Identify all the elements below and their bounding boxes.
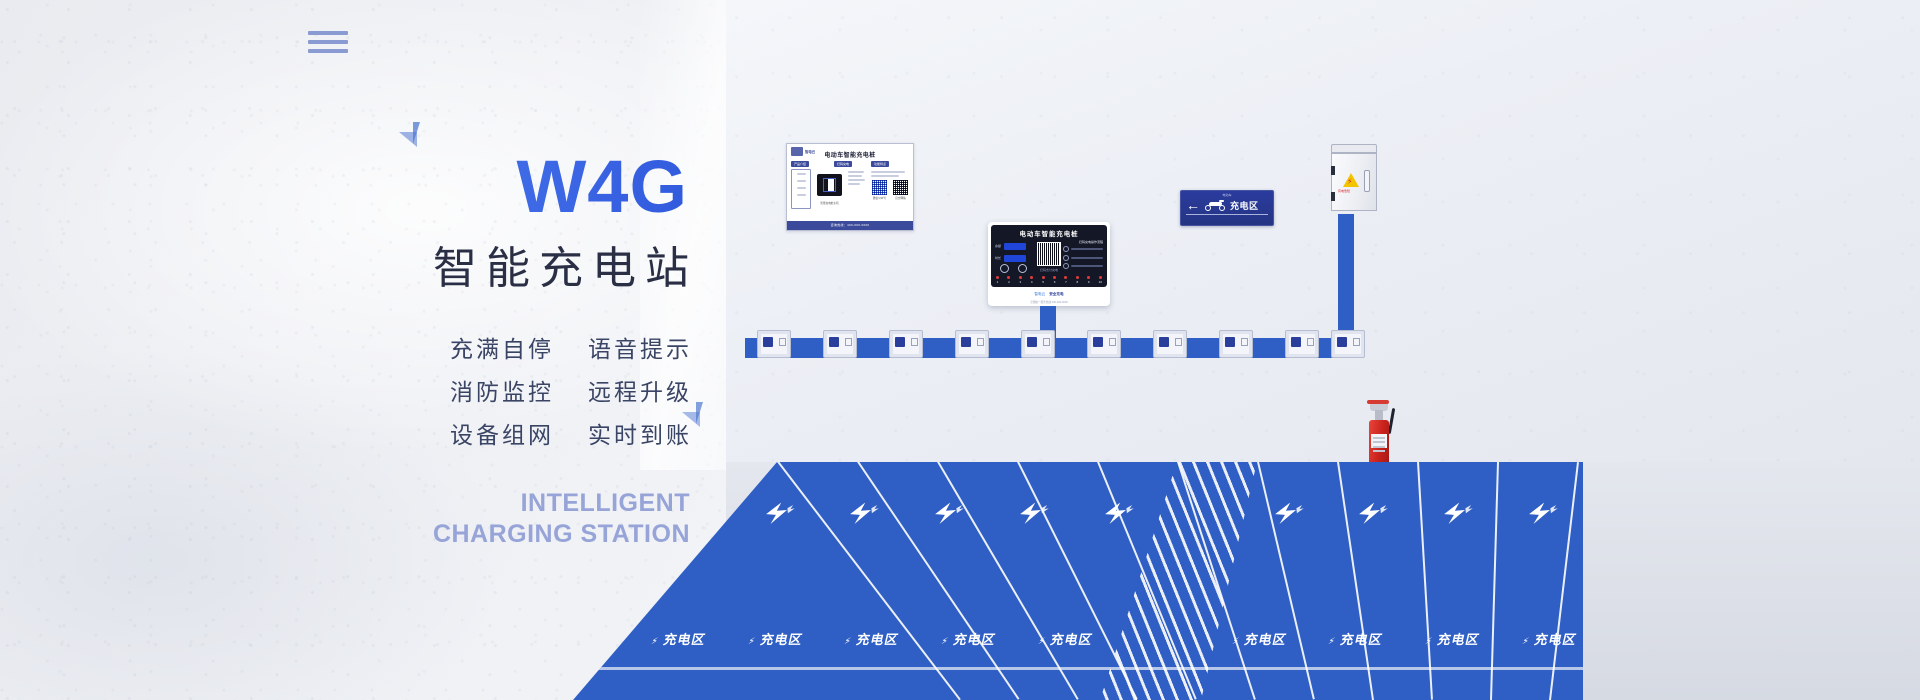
- poster-tag: 产品介绍: [791, 161, 809, 167]
- socket-icon: [1291, 337, 1301, 347]
- wall-outlet[interactable]: [1087, 330, 1121, 358]
- wall-outlet[interactable]: [1219, 330, 1253, 358]
- port-led-icon: [1019, 276, 1022, 279]
- direction-sign: 电动车 ← 充电区: [1180, 190, 1274, 226]
- feature-row: 充满自停 语音提示: [300, 330, 692, 364]
- port-led-icon: [1064, 276, 1067, 279]
- pile-qr-code-icon[interactable]: [1037, 242, 1061, 266]
- hamburger-bar: [308, 31, 348, 35]
- socket-icon: [1159, 337, 1169, 347]
- wall-outlet[interactable]: [823, 330, 857, 358]
- parking-bay-label: ⚡ 充电区: [1521, 629, 1579, 648]
- charging-pile-footer: 智电云 安全充电 全国统一服务热线 400-000-0000: [991, 287, 1107, 302]
- extinguisher-label: [1371, 434, 1387, 448]
- lightning-bolt-icon: [1521, 500, 1561, 526]
- port-led-icon: [1099, 276, 1102, 279]
- extinguisher-neck: [1375, 410, 1383, 420]
- pile-port[interactable]: 4: [1030, 276, 1033, 284]
- charging-pile-panel: 电动车智能充电桩 余额 时长 扫码支付充电 扫码充电操作流程 1 2 3 4 5…: [991, 225, 1107, 287]
- socket-icon: [829, 337, 839, 347]
- pile-port[interactable]: 5: [1042, 276, 1045, 284]
- poster-footer-text: 咨询热线：400-000-0000: [787, 221, 913, 230]
- wall-poster: 智电云 电动车智能充电桩 产品介绍 扫码充电 功能特点: [786, 143, 914, 231]
- poster-device-caption: 智能充电桩主机: [814, 201, 844, 205]
- parking-bay-divider: [1490, 462, 1499, 700]
- wall-outlet[interactable]: [1331, 330, 1365, 358]
- room-wall: [726, 0, 1920, 470]
- feature-row: 消防监控 远程升级: [300, 373, 692, 407]
- parking-bay-label: ⚡ 充电区: [650, 629, 708, 648]
- extinguisher-handle: [1367, 400, 1389, 404]
- hero-text-block: W4G 智能充电站 充满自停 语音提示 消防监控 远程升级 设备组网 实时到账: [300, 150, 700, 459]
- pile-step-icon: [1063, 255, 1069, 261]
- pile-port[interactable]: 1: [996, 276, 999, 284]
- lightning-bolt-icon: [1267, 500, 1307, 526]
- parking-bay-label: ⚡ 充电区: [1327, 629, 1385, 648]
- parking-bay-divider: [857, 461, 1020, 700]
- english-line-2: CHARGING STATION: [300, 519, 690, 550]
- pile-info-heading: 扫码充电操作流程: [1063, 240, 1103, 244]
- ebox-warning-text: 有电危险: [1338, 189, 1350, 193]
- pile-port[interactable]: 8: [1076, 276, 1079, 284]
- page-title: W4G: [300, 150, 700, 224]
- port-led-icon: [1030, 276, 1033, 279]
- feature-item: 实时到账: [588, 416, 692, 450]
- parking-bay-divider: [777, 461, 961, 700]
- feature-row: 设备组网 实时到账: [300, 416, 692, 450]
- parking-bay-divider: [1549, 462, 1579, 700]
- english-tagline: INTELLIGENT CHARGING STATION: [300, 488, 700, 549]
- pile-fan-icon: [1000, 264, 1009, 273]
- pile-port-indicators: 1 2 3 4 5 6 7 8 9 10: [996, 276, 1102, 284]
- feature-list: 充满自停 语音提示 消防监控 远程升级 设备组网 实时到账: [300, 330, 700, 450]
- parking-bay-label: ⚡ 充电区: [1037, 629, 1095, 648]
- poster-tags: 产品介绍 扫码充电 功能特点: [791, 161, 909, 167]
- pile-port[interactable]: 10: [1099, 276, 1102, 284]
- socket-icon: [763, 337, 773, 347]
- socket-icon: [961, 337, 971, 347]
- parking-bay-label: ⚡ 充电区: [1424, 629, 1482, 648]
- electrical-distribution-box: 有电危险: [1331, 144, 1377, 214]
- feature-item: 远程升级: [588, 373, 692, 407]
- feature-item: 语音提示: [588, 330, 692, 364]
- socket-icon: [1027, 337, 1037, 347]
- poster-tag: 扫码充电: [834, 161, 852, 167]
- parking-bay-divider: [1417, 462, 1433, 700]
- poster-tag: 功能特点: [871, 161, 889, 167]
- pile-lcd-display: [1004, 255, 1026, 262]
- pile-lcd-label: 时长: [995, 256, 1001, 260]
- pile-port[interactable]: 3: [1019, 276, 1022, 284]
- hamburger-bar: [308, 49, 348, 53]
- wall-outlet[interactable]: [955, 330, 989, 358]
- feature-item: 设备组网: [450, 416, 554, 450]
- parking-bay-divider: [1257, 462, 1315, 700]
- lightning-bolt-icon: [1436, 500, 1476, 526]
- pile-step-icon: [1063, 246, 1069, 252]
- hamburger-bar: [308, 40, 348, 44]
- parking-bay-label: ⚡ 充电区: [746, 629, 804, 648]
- feature-item: 消防监控: [450, 373, 554, 407]
- poster-qr-group: 微信公众号 官方网站: [871, 179, 909, 200]
- ebox-hinge: [1331, 166, 1335, 175]
- poster-footer: 咨询热线：400-000-0000: [787, 221, 913, 230]
- lightning-bolt-icon: [1097, 500, 1137, 526]
- ebox-hinge: [1331, 192, 1335, 201]
- pile-lcd-display: [1004, 243, 1026, 250]
- ebox-door: 有电危险: [1331, 153, 1377, 211]
- socket-icon: [1225, 337, 1235, 347]
- pile-footer-note: 全国统一服务热线 400-000-0000: [988, 300, 1110, 304]
- lightning-bolt-icon: [1012, 500, 1052, 526]
- port-led-icon: [1076, 276, 1079, 279]
- pile-port[interactable]: 2: [1007, 276, 1010, 284]
- port-led-icon: [1007, 276, 1010, 279]
- poster-col-device: 智能充电桩主机: [814, 169, 844, 209]
- pile-power-icon: [1018, 264, 1027, 273]
- scooter-icon: [1205, 200, 1225, 211]
- poster-flow-box: [791, 169, 811, 209]
- wall-outlet[interactable]: [1021, 330, 1055, 358]
- feature-item: 充满自停: [450, 330, 554, 364]
- poster-col-left: [791, 169, 811, 209]
- promo-banner: W4G 智能充电站 充满自停 语音提示 消防监控 远程升级 设备组网 实时到账 …: [0, 0, 1920, 700]
- port-led-icon: [1042, 276, 1045, 279]
- pile-step-icon: [1063, 263, 1069, 269]
- socket-icon: [1093, 337, 1103, 347]
- wall-outlet[interactable]: [757, 330, 791, 358]
- ebox-top-cap: [1331, 144, 1377, 153]
- poster-qr-caption: 微信公众号: [871, 196, 888, 200]
- pile-port[interactable]: 6: [1053, 276, 1056, 284]
- conduit-drop: [1338, 214, 1354, 342]
- sign-divider: [1186, 214, 1268, 215]
- port-led-icon: [1053, 276, 1056, 279]
- sign-content-row: ← 充电区: [1186, 198, 1268, 212]
- charging-pile-unit[interactable]: 电动车智能充电桩 余额 时长 扫码支付充电 扫码充电操作流程 1 2 3 4 5…: [988, 222, 1110, 306]
- parking-bay-divider: [937, 461, 1079, 700]
- port-led-icon: [996, 276, 999, 279]
- hamburger-menu-icon[interactable]: [308, 31, 348, 53]
- extinguisher-body: [1369, 420, 1389, 466]
- left-arrow-icon: ←: [1186, 198, 1200, 212]
- outlet-rail: [745, 338, 1354, 358]
- poster-device-qr: [828, 179, 835, 191]
- parking-bay-label: ⚡ 充电区: [940, 629, 998, 648]
- pile-info-column: 扫码充电操作流程: [1063, 240, 1103, 272]
- lightning-bolt-icon: [927, 500, 967, 526]
- poster-qr-item: 官方网站: [892, 179, 909, 200]
- poster-qr-code-icon: [871, 179, 888, 196]
- wall-outlet[interactable]: [1153, 330, 1187, 358]
- lot-edge-stripe: [573, 667, 1583, 670]
- poster-qr-item: 微信公众号: [871, 179, 888, 200]
- charging-pile-title: 电动车智能充电桩: [996, 229, 1102, 238]
- lightning-bolt-icon: [758, 500, 798, 526]
- lightning-bolt-icon: [1351, 500, 1391, 526]
- poster-logo-text: 智电云: [805, 149, 815, 154]
- parking-bay-label: ⚡ 充电区: [1230, 629, 1288, 648]
- poster-device-image: [817, 174, 841, 196]
- english-line-1: INTELLIGENT: [300, 488, 690, 519]
- socket-icon: [895, 337, 905, 347]
- parking-bay-label: ⚡ 充电区: [843, 629, 901, 648]
- socket-icon: [1337, 337, 1347, 347]
- pile-port[interactable]: 7: [1064, 276, 1067, 284]
- poster-body: 智能充电桩主机 微信公众号 官方网站: [791, 169, 909, 209]
- parking-bay-divider: [1337, 462, 1374, 700]
- pile-brand-left: 智电云: [1034, 292, 1045, 297]
- high-voltage-warning-icon: [1343, 173, 1359, 187]
- page-subtitle: 智能充电站: [300, 232, 700, 296]
- poster-qr-caption: 官方网站: [892, 196, 909, 200]
- poster-qr-code-icon: [892, 179, 909, 196]
- pile-lcd-label: 余额: [995, 244, 1001, 248]
- pile-brand-right: 安全充电: [1049, 292, 1063, 297]
- pile-port[interactable]: 9: [1087, 276, 1090, 284]
- poster-logo-icon: [791, 147, 803, 156]
- pile-qr-caption: 扫码支付充电: [1040, 268, 1058, 272]
- poster-col-right: 微信公众号 官方网站: [871, 169, 909, 209]
- sign-label: 充电区: [1230, 199, 1259, 212]
- wall-outlet[interactable]: [889, 330, 923, 358]
- port-led-icon: [1087, 276, 1090, 279]
- fire-extinguisher: [1366, 400, 1392, 466]
- poster-col-steps: [848, 169, 868, 209]
- wall-outlet[interactable]: [1285, 330, 1319, 358]
- ebox-handle[interactable]: [1364, 170, 1370, 192]
- lightning-bolt-icon: [842, 500, 882, 526]
